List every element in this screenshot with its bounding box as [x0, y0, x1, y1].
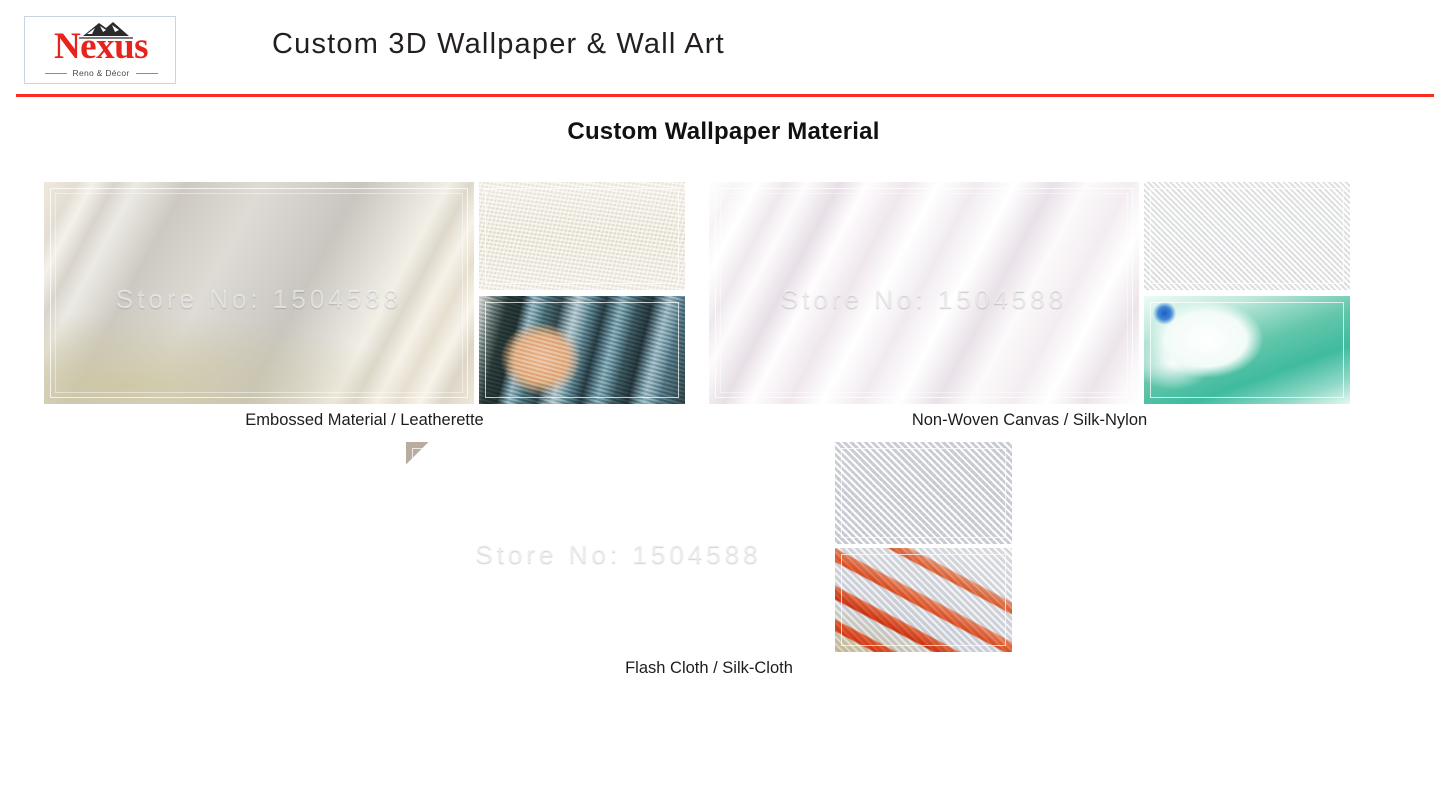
woven-flash-cloth-swatch-texture — [835, 442, 1012, 544]
header-title: Custom 3D Wallpaper & Wall Art — [272, 28, 725, 61]
page-footer: Follow Us! — [0, 710, 1447, 800]
material-thumb[interactable] — [835, 442, 1012, 544]
embossed-roll-texture — [44, 182, 474, 404]
material-thumb[interactable] — [479, 182, 685, 290]
page-title: Custom Wallpaper Material — [0, 118, 1447, 146]
material-main-image-embossed[interactable]: Store No: 1504588 — [44, 182, 474, 404]
material-thumb[interactable] — [1144, 296, 1350, 404]
flash-cloth-texture — [406, 442, 831, 652]
brand-logo[interactable]: Nexus Reno & Décor — [24, 16, 176, 84]
material-main-image-nonwoven[interactable]: Store No: 1504588 — [709, 182, 1139, 404]
embossed-swatch-texture — [479, 182, 685, 290]
material-thumb[interactable] — [479, 296, 685, 404]
brand-wordmark: Nexus — [25, 27, 177, 67]
tagline-rule-left — [45, 73, 67, 74]
material-thumb[interactable] — [835, 548, 1012, 652]
material-thumbs-embossed — [479, 182, 685, 404]
material-thumbs-flashcloth — [835, 442, 1012, 652]
slide-canvas: Nexus Reno & Décor Custom 3D Wallpaper &… — [0, 0, 1447, 800]
non-woven-mesh-swatch-texture — [1144, 182, 1350, 290]
material-thumbs-nonwoven — [1144, 182, 1350, 404]
material-card-nonwoven: Store No: 1504588 Non-Woven Canvas / Sil… — [709, 182, 1350, 430]
silk-nylon-texture — [709, 182, 1139, 404]
brand-tagline-row: Reno & Décor — [25, 68, 177, 78]
material-caption: Non-Woven Canvas / Silk-Nylon — [709, 411, 1350, 430]
tagline-rule-right — [136, 73, 158, 74]
material-card-embossed: Store No: 1504588 Embossed Material / Le… — [44, 182, 685, 430]
brand-tagline: Reno & Décor — [73, 68, 130, 78]
material-images-nonwoven: Store No: 1504588 — [709, 182, 1350, 404]
header-divider — [16, 94, 1434, 97]
printed-floral-swatch-texture — [479, 296, 685, 404]
page-header: Nexus Reno & Décor Custom 3D Wallpaper &… — [0, 0, 1447, 96]
material-images-embossed: Store No: 1504588 — [44, 182, 685, 404]
material-main-image-flashcloth[interactable]: Store No: 1504588 — [406, 442, 831, 652]
material-caption: Flash Cloth / Silk-Cloth — [406, 659, 1012, 678]
material-images-flashcloth: Store No: 1504588 — [406, 442, 1012, 652]
material-caption: Embossed Material / Leatherette — [44, 411, 685, 430]
material-thumb[interactable] — [1144, 182, 1350, 290]
teal-floral-swatch-texture — [1144, 296, 1350, 404]
material-card-flashcloth: Store No: 1504588 Flash Cloth / Silk-Clo… — [406, 442, 1012, 678]
red-striped-swatch-texture — [835, 548, 1012, 652]
